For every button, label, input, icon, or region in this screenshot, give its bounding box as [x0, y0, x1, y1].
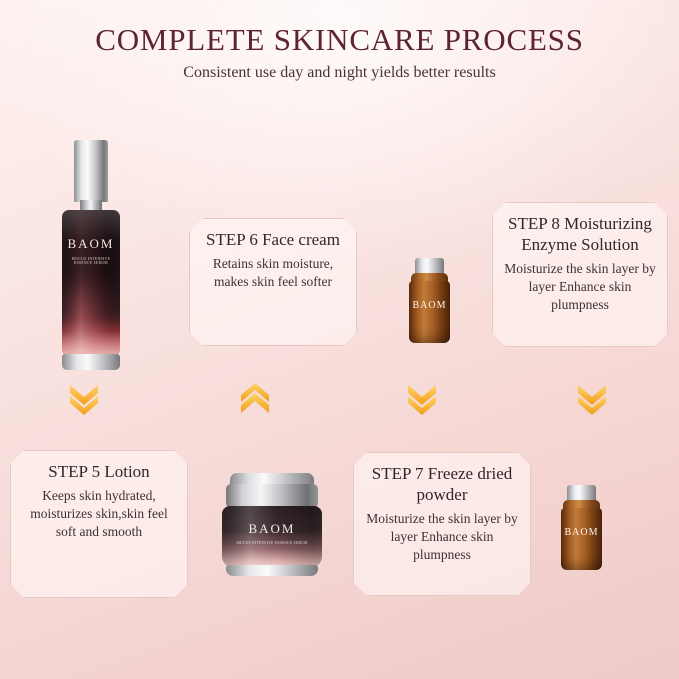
- chevron-down-icon: [405, 382, 439, 416]
- step-card-desc: Keeps skin hydrated, moisturizes skin,sk…: [21, 487, 177, 541]
- serum-cap: [74, 140, 108, 202]
- vial-brand-text: BAOM: [409, 300, 450, 311]
- step-card-title: STEP 6 Face cream: [200, 229, 346, 250]
- step-card-title: STEP 5 Lotion: [21, 461, 177, 482]
- jar-label: BAOM MUCUS INTENSIVE ESSENCE SERUM: [222, 521, 322, 545]
- jar-base: [226, 565, 318, 576]
- page-title: COMPLETE SKINCARE PROCESS: [0, 22, 679, 58]
- page-subtitle: Consistent use day and night yields bett…: [0, 64, 679, 82]
- vial-body: [409, 281, 450, 343]
- product-serum-bottle: BAOM MUCUS INTENSIVE ESSENCE SERUM: [58, 140, 124, 372]
- serum-label: BAOM MUCUS INTENSIVE ESSENCE SERUM: [62, 236, 120, 265]
- step-card-step-6: STEP 6 Face cream Retains skin moisture,…: [189, 218, 357, 346]
- step-card-desc: Moisturize the skin layer by layer Enhan…: [364, 510, 520, 564]
- product-cream-jar: BAOM MUCUS INTENSIVE ESSENCE SERUM: [220, 473, 324, 579]
- product-vial-freeze-dried: BAOM: [556, 485, 607, 571]
- step-card-desc: Moisturize the skin layer by layer Enhan…: [503, 260, 657, 314]
- serum-sub-text: MUCUS INTENSIVE ESSENCE SERUM: [62, 257, 120, 265]
- jar-lid: [226, 484, 318, 508]
- step-card-desc: Retains skin moisture, makes skin feel s…: [200, 255, 346, 291]
- serum-brand-text: BAOM: [62, 236, 120, 252]
- vial-brand-text: BAOM: [561, 527, 602, 538]
- jar-sub-text: MUCUS INTENSIVE ESSENCE SERUM: [222, 541, 322, 545]
- vial-body: [561, 508, 602, 570]
- product-vial-enzyme: BAOM: [404, 258, 455, 344]
- serum-body: [62, 210, 120, 358]
- step-card-title: STEP 7 Freeze dried powder: [364, 463, 520, 505]
- step-card-step-8: STEP 8 Moisturizing Enzyme Solution Mois…: [492, 202, 668, 347]
- chevron-up-icon: [238, 382, 272, 416]
- poster-canvas: COMPLETE SKINCARE PROCESS Consistent use…: [0, 0, 679, 679]
- step-card-title: STEP 8 Moisturizing Enzyme Solution: [503, 213, 657, 255]
- step-card-step-7: STEP 7 Freeze dried powder Moisturize th…: [353, 452, 531, 596]
- chevron-down-icon: [67, 382, 101, 416]
- serum-base: [62, 354, 120, 370]
- jar-brand-text: BAOM: [222, 521, 322, 537]
- step-card-step-5: STEP 5 Lotion Keeps skin hydrated, moist…: [10, 450, 188, 598]
- chevron-down-icon: [575, 382, 609, 416]
